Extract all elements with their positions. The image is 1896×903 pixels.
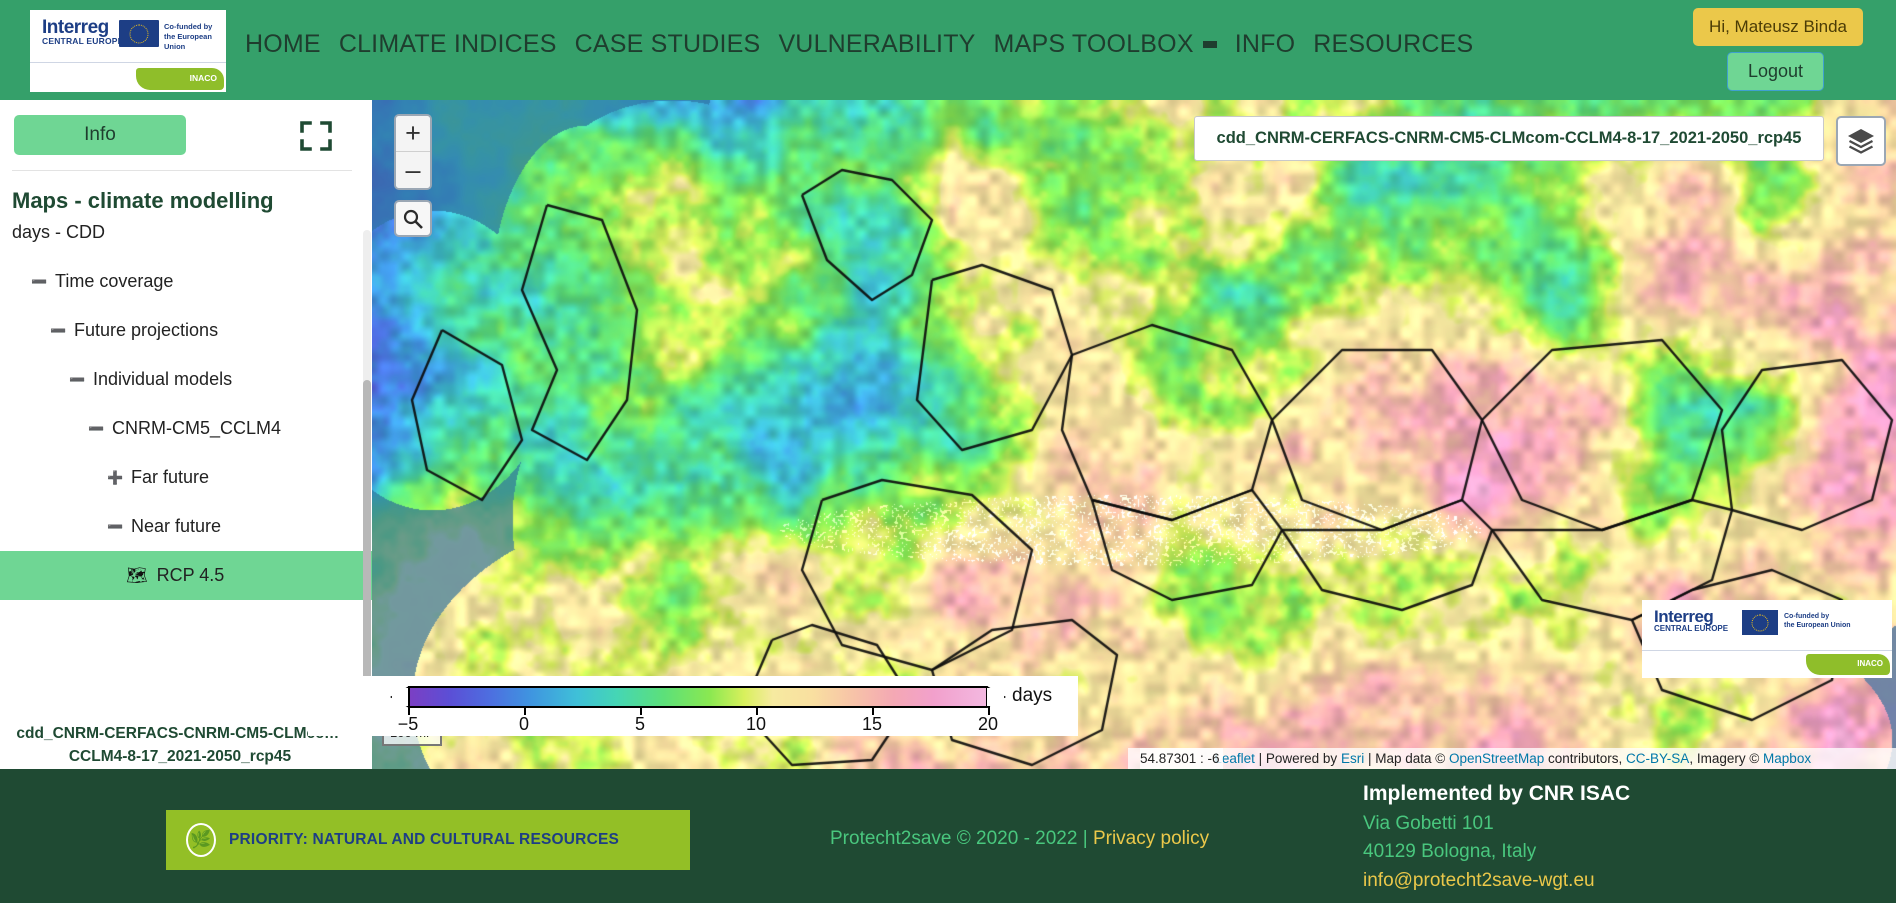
eu-stars-icon — [130, 24, 149, 43]
user-greeting-button[interactable]: Hi, Mateusz Binda — [1693, 8, 1863, 46]
map-attribution: 54.87301 : -6 Leaflet | Powered by Esri … — [1128, 748, 1896, 769]
chevron-down-icon — [1203, 41, 1217, 48]
map-badge-eu-flag-icon — [1742, 610, 1778, 635]
sidebar-divider-top — [12, 170, 352, 171]
main-navigation: HOME CLIMATE INDICES CASE STUDIES VULNER… — [245, 30, 1473, 59]
tree-item-label: Far future — [131, 467, 209, 488]
logo-divider — [30, 62, 226, 63]
selected-layer-name: cdd_CNRM-CERFACS-CNRM-CM5-CLMcom- CCLM4-… — [10, 722, 350, 769]
layer-name-line2: CCLM4-8-17_2021-2050_rcp45 — [10, 745, 350, 768]
nav-item-home[interactable]: HOME — [245, 30, 321, 59]
tree-item-label: days - CDD — [12, 222, 105, 243]
layer-tree: days - CDD➖Time coverage➖Future projecti… — [0, 208, 372, 728]
tree-item-label: Future projections — [74, 320, 218, 341]
layers-control-button[interactable] — [1836, 116, 1886, 166]
logo-top-row: Interreg CENTRAL EUROPE Co-funded by the… — [30, 10, 226, 62]
zoom-out-button[interactable]: – — [396, 152, 430, 188]
left-sidebar: Info Maps - climate modelling days - CDD… — [0, 100, 372, 769]
map-badge-inaco-label: INACO — [1857, 659, 1883, 668]
collapse-minus-icon[interactable]: ➖ — [31, 274, 46, 290]
nav-label: CASE STUDIES — [575, 30, 761, 58]
eu-line1: Co-funded by — [164, 22, 226, 32]
nav-label: HOME — [245, 30, 321, 58]
eu-funding-text: Co-funded by the European Union — [164, 22, 226, 52]
info-button[interactable]: Info — [14, 115, 186, 155]
colorbar-tick-labels: −505101520 — [408, 714, 988, 736]
nav-label: CLIMATE INDICES — [339, 30, 557, 58]
interreg-line2: CENTRAL EUROPE — [42, 37, 124, 46]
map-coordinates-readout: 54.87301 : -6 — [1140, 748, 1223, 769]
interreg-line1: Interreg — [42, 18, 124, 37]
colorbar-tick-label: 15 — [862, 714, 882, 735]
nav-item-resources[interactable]: RESOURCES — [1313, 30, 1473, 59]
priority-badge[interactable]: 🌿 PRIORITY: NATURAL AND CULTURAL RESOURC… — [166, 810, 690, 870]
nav-item-climate-indices[interactable]: CLIMATE INDICES — [339, 30, 557, 59]
logout-button[interactable]: Logout — [1727, 52, 1824, 91]
tree-item[interactable]: ➖CNRM-CM5_CCLM4 — [0, 404, 372, 453]
map-badge-eu-text: Co-funded by the European Union — [1784, 612, 1851, 631]
tree-item-label: CNRM-CM5_CCLM4 — [112, 418, 281, 439]
collapse-minus-icon[interactable]: ➖ — [69, 372, 84, 388]
expand-icon[interactable] — [300, 120, 332, 152]
map-viewport[interactable]: + – cdd_CNRM-CERFACS-CNRM-CM5-CLMcom-CCL… — [372, 100, 1896, 769]
search-icon — [402, 208, 424, 230]
nav-item-maps-toolbox[interactable]: MAPS TOOLBOX — [994, 30, 1217, 59]
tree-item-label: Near future — [131, 516, 221, 537]
nav-label: INFO — [1235, 30, 1296, 58]
colorbar-tick-label: 5 — [635, 714, 645, 735]
tree-item[interactable]: ➖Individual models — [0, 355, 372, 404]
attribution-mapbox-link[interactable]: Mapbox — [1763, 751, 1811, 766]
nav-item-info[interactable]: INFO — [1235, 30, 1296, 59]
expand-plus-icon[interactable]: ➕ — [107, 470, 122, 486]
colorbar-gradient — [408, 686, 988, 708]
map-badge-line2: CENTRAL EUROPE — [1654, 625, 1728, 633]
footer-copyright: Protecht2save © 2020 - 2022 | Privacy po… — [830, 828, 1209, 850]
footer-address-line2: 40129 Bologna, Italy — [1363, 841, 1536, 863]
colorbar-right-arrow-icon — [987, 686, 1006, 708]
colorbar-left-arrow-icon — [390, 686, 409, 708]
attribution-imagery: , Imagery © — [1689, 751, 1763, 766]
nav-label: MAPS TOOLBOX — [994, 30, 1194, 58]
map-badge-top: Interreg CENTRAL EUROPE Co-funded by the… — [1642, 600, 1892, 650]
layer-name-line1: cdd_CNRM-CERFACS-CNRM-CM5-CLMcom- — [10, 722, 350, 745]
colorbar-tick-label: 20 — [978, 714, 998, 735]
collapse-minus-icon[interactable]: ➖ — [88, 421, 103, 437]
colorbar-unit-label: days — [1012, 685, 1052, 707]
tree-item[interactable]: ➖Future projections — [0, 306, 372, 355]
attribution-esri-link[interactable]: Esri — [1341, 751, 1364, 766]
map-colorbar-legend: days −505101520 — [308, 676, 1078, 736]
privacy-policy-link[interactable]: Privacy policy — [1093, 828, 1209, 849]
map-search-button[interactable] — [394, 200, 432, 237]
tree-item[interactable]: ➖Time coverage — [0, 257, 372, 306]
nav-label: VULNERABILITY — [778, 30, 975, 58]
attribution-contributors: contributors, — [1544, 751, 1626, 766]
copyright-text: Protecht2save © 2020 - 2022 | — [830, 828, 1093, 849]
map-badge-wordmark: Interreg CENTRAL EUROPE — [1654, 608, 1728, 633]
site-header: Interreg CENTRAL EUROPE Co-funded by the… — [0, 0, 1896, 100]
inaco-label: INACO — [190, 73, 217, 83]
eu-flag-icon — [119, 20, 159, 47]
nav-item-vulnerability[interactable]: VULNERABILITY — [778, 30, 975, 59]
colorbar-tick-label: 10 — [746, 714, 766, 735]
collapse-minus-icon[interactable]: ➖ — [50, 323, 65, 339]
tree-item[interactable]: ➕Far future — [0, 453, 372, 502]
map-badge-eu-line2: the European Union — [1784, 621, 1851, 630]
map-badge-eu-line1: Co-funded by — [1784, 612, 1851, 621]
active-layer-chip[interactable]: cdd_CNRM-CERFACS-CNRM-CM5-CLMcom-CCLM4-8… — [1194, 116, 1824, 161]
zoom-in-button[interactable]: + — [396, 116, 430, 152]
priority-badge-label: PRIORITY: NATURAL AND CULTURAL RESOURCES — [229, 831, 619, 849]
inaco-badge: INACO — [136, 68, 224, 90]
footer-address-line1: Via Gobetti 101 — [1363, 813, 1494, 835]
leaf-seal-icon: 🌿 — [186, 823, 216, 857]
interreg-wordmark: Interreg CENTRAL EUROPE — [42, 18, 124, 46]
nav-label: RESOURCES — [1313, 30, 1473, 58]
tree-item-label: Individual models — [93, 369, 232, 390]
map-interreg-badge: Interreg CENTRAL EUROPE Co-funded by the… — [1642, 600, 1892, 678]
colorbar-tick-label: −5 — [398, 714, 419, 735]
attribution-powered: | Powered by — [1255, 751, 1341, 766]
tree-item-label: Time coverage — [55, 271, 173, 292]
map-badge-eu-stars-icon — [1752, 614, 1769, 631]
tree-item[interactable]: ➖Near future — [0, 502, 372, 551]
attribution-osm-link[interactable]: OpenStreetMap — [1449, 751, 1544, 766]
eu-line2: the European Union — [164, 32, 226, 52]
nav-item-case-studies[interactable]: CASE STUDIES — [575, 30, 761, 59]
map-icon: 🗺 — [126, 566, 148, 586]
collapse-minus-icon[interactable]: ➖ — [107, 519, 122, 535]
colorbar-tick-label: 0 — [519, 714, 529, 735]
layers-icon — [1846, 126, 1876, 156]
tree-item[interactable]: days - CDD — [0, 208, 372, 257]
tree-item[interactable]: 🗺RCP 4.5 — [0, 551, 372, 600]
attribution-license-link[interactable]: CC-BY-SA — [1626, 751, 1689, 766]
footer-implemented-by: Implemented by CNR ISAC — [1363, 782, 1630, 806]
map-badge-inaco: INACO — [1806, 654, 1890, 675]
attribution-mapdata: | Map data © — [1364, 751, 1449, 766]
tree-item-label: RCP 4.5 — [157, 565, 225, 586]
interreg-logo[interactable]: Interreg CENTRAL EUROPE Co-funded by the… — [30, 10, 226, 92]
map-badge-line1: Interreg — [1654, 608, 1728, 625]
page-title: Maps - climate modelling — [12, 188, 280, 214]
footer-email-link[interactable]: info@protecht2save-wgt.eu — [1363, 870, 1595, 892]
map-zoom-controls: + – — [394, 114, 432, 190]
map-badge-divider — [1642, 650, 1892, 651]
